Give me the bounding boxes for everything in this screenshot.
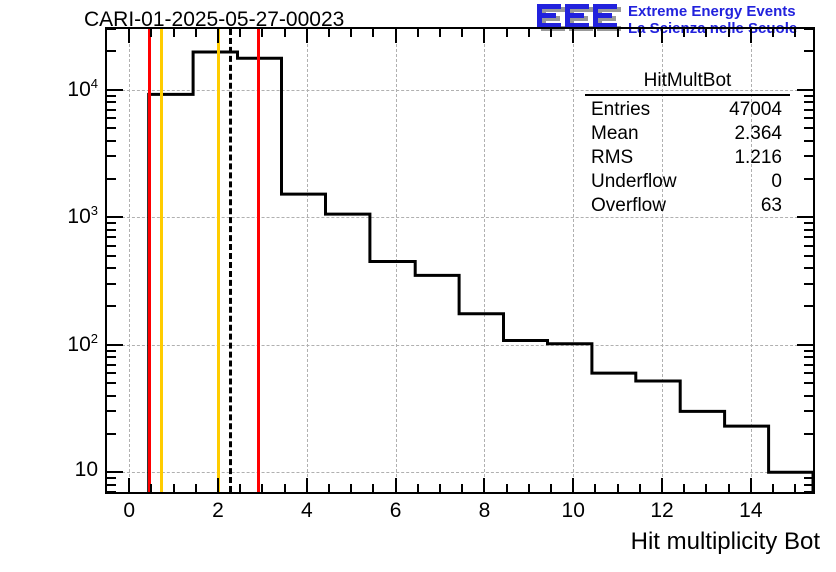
axis-tick — [804, 267, 813, 269]
axis-tick — [395, 29, 397, 43]
axis-tick — [107, 229, 116, 231]
axis-tick — [804, 364, 813, 366]
axis-tick — [804, 255, 813, 257]
axis-tick — [107, 344, 123, 346]
axis-tick — [107, 50, 116, 52]
axis-tick — [173, 484, 175, 492]
axis-tick — [804, 350, 813, 352]
axis-tick — [261, 29, 263, 37]
axis-tick — [417, 484, 419, 492]
axis-tick — [107, 89, 123, 91]
axis-tick — [804, 305, 813, 307]
stats-divider — [585, 94, 790, 96]
axis-tick — [639, 29, 641, 37]
axis-tick — [239, 484, 241, 492]
axis-tick — [639, 484, 641, 492]
axis-tick — [804, 283, 813, 285]
stats-row: Overflow63 — [585, 194, 790, 218]
axis-tick — [804, 222, 813, 224]
axis-tick — [550, 484, 552, 492]
stats-row: Entries47004 — [585, 98, 790, 122]
axis-tick — [705, 484, 707, 492]
y-tick-label: 10 — [40, 458, 98, 482]
axis-tick — [107, 236, 116, 238]
axis-tick — [417, 29, 419, 37]
axis-tick — [195, 484, 197, 492]
axis-tick — [506, 29, 508, 37]
axis-tick — [107, 255, 116, 257]
stats-row: RMS1.216 — [585, 146, 790, 170]
stats-row-key: RMS — [585, 146, 633, 170]
axis-tick — [804, 484, 813, 486]
axis-tick — [107, 382, 116, 384]
axis-tick — [750, 29, 752, 43]
axis-tick — [107, 350, 116, 352]
axis-tick — [107, 356, 116, 358]
axis-tick — [804, 382, 813, 384]
axis-tick — [107, 364, 116, 366]
axis-tick — [107, 178, 116, 180]
axis-tick — [107, 471, 123, 473]
axis-tick — [306, 29, 308, 43]
dashed-mean-line — [229, 29, 232, 492]
axis-tick — [306, 478, 308, 492]
axis-tick — [107, 433, 116, 435]
axis-tick — [150, 484, 152, 492]
y-tick-label: 102 — [40, 331, 98, 357]
x-tick-label: 8 — [454, 499, 514, 523]
axis-tick — [506, 484, 508, 492]
axis-tick — [572, 478, 574, 492]
axis-tick — [107, 95, 116, 97]
axis-tick — [107, 283, 116, 285]
axis-tick — [594, 484, 596, 492]
axis-tick — [804, 50, 813, 52]
axis-tick — [804, 229, 813, 231]
x-tick-label: 6 — [366, 499, 426, 523]
axis-tick — [683, 29, 685, 37]
axis-tick — [328, 29, 330, 37]
axis-tick — [107, 477, 116, 479]
axis-tick — [804, 155, 813, 157]
axis-tick — [107, 101, 116, 103]
axis-tick — [797, 89, 813, 91]
stats-box: HitMultBot Entries47004Mean2.364RMS1.216… — [585, 70, 790, 218]
orange-line-right — [217, 29, 220, 492]
axis-tick — [804, 410, 813, 412]
axis-tick — [107, 410, 116, 412]
axis-tick — [794, 484, 796, 492]
axis-tick — [804, 101, 813, 103]
axis-tick — [107, 395, 116, 397]
axis-tick — [750, 478, 752, 492]
axis-tick — [528, 484, 530, 492]
x-tick-label: 14 — [721, 499, 781, 523]
axis-tick — [705, 29, 707, 37]
axis-tick — [528, 29, 530, 37]
axis-tick — [594, 29, 596, 37]
axis-tick — [107, 222, 116, 224]
axis-tick — [107, 117, 116, 119]
axis-tick — [804, 109, 813, 111]
axis-tick — [107, 155, 116, 157]
axis-tick — [804, 127, 813, 129]
x-tick-label: 10 — [543, 499, 603, 523]
y-tick-label: 104 — [40, 76, 98, 102]
axis-tick — [107, 267, 116, 269]
axis-tick — [150, 29, 152, 37]
axis-tick — [107, 109, 116, 111]
axis-tick — [173, 29, 175, 37]
axis-tick — [372, 29, 374, 37]
axis-tick — [439, 29, 441, 37]
x-tick-label: 2 — [188, 499, 248, 523]
axis-tick — [107, 28, 116, 30]
axis-tick — [217, 29, 219, 43]
axis-tick — [461, 29, 463, 37]
stats-row-value: 1.216 — [734, 146, 790, 170]
axis-tick — [107, 491, 116, 493]
axis-tick — [284, 29, 286, 37]
stats-row-key: Mean — [585, 122, 639, 146]
axis-tick — [797, 344, 813, 346]
stats-row: Mean2.364 — [585, 122, 790, 146]
axis-tick — [239, 29, 241, 37]
axis-tick — [804, 477, 813, 479]
y-tick-label: 103 — [40, 203, 98, 229]
stats-row-value: 63 — [761, 194, 790, 218]
axis-tick — [107, 127, 116, 129]
red-line-left — [148, 29, 151, 492]
root-canvas: CARI-01-2025-05-27-00023 — [0, 0, 836, 572]
axis-tick — [728, 29, 730, 37]
axis-tick — [683, 484, 685, 492]
red-line-right — [257, 29, 260, 492]
axis-tick — [772, 484, 774, 492]
axis-tick — [461, 484, 463, 492]
axis-tick — [772, 29, 774, 37]
axis-tick — [128, 29, 130, 43]
axis-tick — [804, 117, 813, 119]
axis-tick — [804, 395, 813, 397]
axis-tick — [804, 245, 813, 247]
axis-tick — [804, 356, 813, 358]
axis-tick — [483, 29, 485, 43]
axis-tick — [572, 29, 574, 43]
axis-tick — [328, 484, 330, 492]
axis-tick — [107, 372, 116, 374]
x-axis-title: Hit multiplicity Bot — [631, 528, 820, 556]
axis-tick — [350, 484, 352, 492]
axis-tick — [728, 484, 730, 492]
stats-row-key: Entries — [585, 98, 650, 122]
axis-tick — [661, 478, 663, 492]
stats-row-key: Overflow — [585, 194, 666, 218]
axis-tick — [128, 478, 130, 492]
stats-row-value: 47004 — [729, 98, 790, 122]
orange-line-left — [160, 29, 163, 492]
axis-tick — [439, 484, 441, 492]
axis-tick — [107, 484, 116, 486]
axis-tick — [395, 478, 397, 492]
stats-row-value: 2.364 — [734, 122, 790, 146]
axis-tick — [804, 140, 813, 142]
axis-tick — [107, 245, 116, 247]
axis-tick — [804, 178, 813, 180]
stats-row-value: 0 — [771, 170, 790, 194]
axis-tick — [261, 484, 263, 492]
axis-tick — [284, 484, 286, 492]
axis-tick — [661, 29, 663, 43]
axis-tick — [804, 28, 813, 30]
stats-rows: Entries47004Mean2.364RMS1.216Underflow0O… — [585, 98, 790, 218]
axis-tick — [797, 216, 813, 218]
axis-tick — [617, 29, 619, 37]
axis-tick — [804, 372, 813, 374]
axis-tick — [350, 29, 352, 37]
stats-row-key: Underflow — [585, 170, 677, 194]
axis-tick — [372, 484, 374, 492]
x-tick-label: 12 — [632, 499, 692, 523]
axis-tick — [617, 484, 619, 492]
axis-tick — [107, 305, 116, 307]
stats-histogram-name: HitMultBot — [585, 70, 790, 93]
axis-tick — [794, 29, 796, 37]
stats-row: Underflow0 — [585, 170, 790, 194]
axis-tick — [804, 491, 813, 493]
axis-tick — [195, 29, 197, 37]
axis-tick — [107, 140, 116, 142]
axis-tick — [550, 29, 552, 37]
axis-tick — [804, 95, 813, 97]
x-tick-label: 4 — [277, 499, 337, 523]
axis-tick — [483, 478, 485, 492]
axis-tick — [107, 216, 123, 218]
axis-tick — [804, 433, 813, 435]
axis-tick — [797, 471, 813, 473]
axis-tick — [804, 236, 813, 238]
eee-logo-line1: Extreme Energy Events — [628, 3, 836, 20]
x-tick-label: 0 — [99, 499, 159, 523]
axis-tick — [217, 478, 219, 492]
